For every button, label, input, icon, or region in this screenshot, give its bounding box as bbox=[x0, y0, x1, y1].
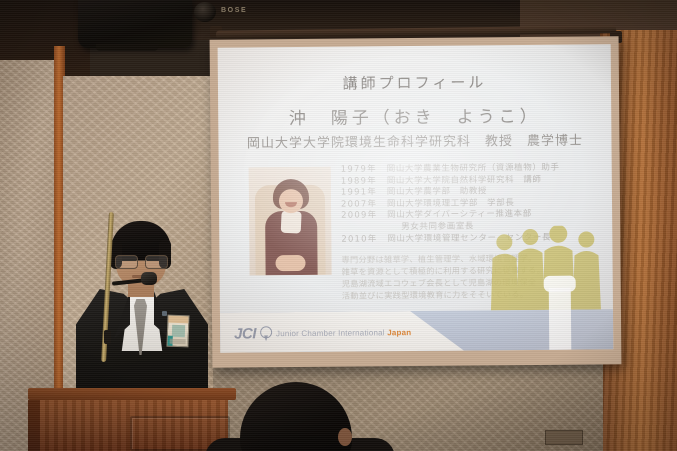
slide-affiliation: 岡山大学大学院環境生命科学研究科 教授 農学博士 bbox=[218, 129, 611, 151]
portrait-hands bbox=[275, 255, 305, 271]
jci-wordmark: JCI bbox=[234, 325, 256, 342]
speaker-portrait-photo bbox=[249, 167, 332, 276]
badge-name-line bbox=[170, 339, 186, 345]
portrait-collar bbox=[281, 211, 302, 234]
jci-tagline-main: Junior Chamber International bbox=[276, 328, 387, 338]
podium-side-left bbox=[28, 400, 40, 451]
presenter-eyeglasses bbox=[115, 255, 168, 267]
timeline-year: 2007年 bbox=[341, 199, 387, 211]
timeline-year: 1989年 bbox=[341, 176, 387, 188]
badge-photo bbox=[172, 325, 185, 337]
podium-top-ledge bbox=[28, 388, 236, 400]
presenter-lapel-pin bbox=[162, 311, 167, 316]
microphone-head-icon bbox=[141, 272, 157, 285]
eyeglass-lens-left bbox=[115, 255, 138, 269]
timeline-year: 2009年 bbox=[341, 211, 387, 223]
jci-tagline: Junior Chamber International Japan bbox=[276, 328, 411, 338]
audience-ear bbox=[338, 428, 352, 446]
slide-title: 講師プロフィール bbox=[218, 70, 611, 94]
presentation-photo-scene: BOSE 講師プロフィール 沖 陽子（おき ようこ） 岡山大学大学院環境生命科学… bbox=[0, 0, 677, 451]
speaker-brand-label: BOSE bbox=[221, 7, 247, 14]
presenter-name-badge bbox=[166, 315, 189, 348]
wooden-podium bbox=[28, 388, 236, 451]
microphone-clip bbox=[104, 330, 111, 344]
slide-speaker-name: 沖 陽子（おき ようこ） bbox=[218, 101, 611, 129]
jci-tagline-country: Japan bbox=[387, 328, 411, 337]
timeline-year: 1991年 bbox=[341, 187, 387, 199]
silhouette-podium bbox=[549, 288, 572, 350]
jci-logo: JCI Junior Chamber International Japan bbox=[234, 324, 411, 343]
timeline-year: 2010年 bbox=[341, 234, 387, 246]
speaker-bracket bbox=[96, 44, 158, 51]
projected-slide: 講師プロフィール 沖 陽子（おき ようこ） 岡山大学大学院環境生命科学研究科 教… bbox=[218, 44, 614, 352]
exit-sign bbox=[545, 430, 583, 445]
projection-screen: 講師プロフィール 沖 陽子（おき ようこ） 岡山大学大学院環境生命科学研究科 教… bbox=[210, 36, 622, 368]
eyeglass-lens-right bbox=[145, 255, 168, 269]
people-silhouette-graphic bbox=[486, 225, 607, 310]
ceiling-speaker: BOSE bbox=[78, 0, 192, 48]
location-pin-icon bbox=[260, 326, 272, 341]
timeline-year: 1979年 bbox=[341, 164, 387, 176]
badge-header-strip bbox=[168, 316, 188, 324]
presenter-figure bbox=[70, 215, 220, 395]
speaker-cone-icon bbox=[194, 2, 216, 22]
